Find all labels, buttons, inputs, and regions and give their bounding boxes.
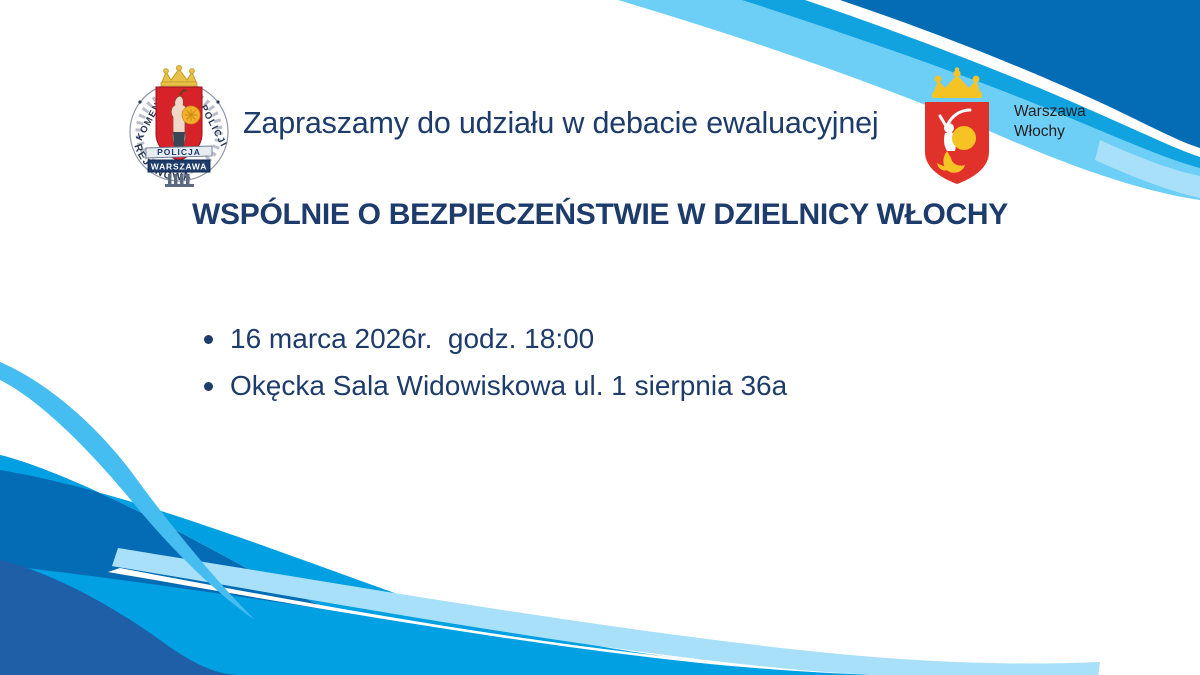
wave-bottom-pale-blue — [112, 560, 1100, 675]
presentation-slide: REJONOWA KOMENDA POLICJI — [0, 0, 1200, 675]
svg-text:WARSZAWA: WARSZAWA — [151, 162, 207, 172]
svg-text:POLICJA: POLICJA — [157, 147, 201, 157]
crown-shape — [161, 65, 197, 86]
wlochy-logo: Warszawa Włochy — [918, 66, 1158, 184]
invitation-text: Zapraszamy do udziału w debacie ewaluacy… — [243, 104, 923, 142]
wave-bottom-deep-blue — [0, 455, 600, 675]
warsaw-mermaid-shield-icon — [918, 66, 996, 184]
header-row: REJONOWA KOMENDA POLICJI — [0, 52, 1200, 197]
wave-bottom-bright-blue — [0, 455, 960, 675]
list-item: Okęcka Sala Widowiskowa ul. 1 sierpnia 3… — [198, 362, 1058, 409]
wave-bottom-navy-lobe — [0, 560, 240, 675]
wave-bottom-pale-blue-body — [112, 548, 1100, 675]
wlochy-logo-text: Warszawa Włochy — [1014, 102, 1086, 142]
page-title: WSPÓLNIE O BEZPIECZEŃSTWIE W DZIELNICY W… — [0, 198, 1200, 232]
wave-bottom-bright-tail — [0, 565, 1010, 675]
crown-shape — [932, 67, 982, 98]
details-list: 16 marca 2026r. godz. 18:00 Okęcka Sala … — [198, 315, 1058, 409]
wlochy-logo-line1: Warszawa — [1014, 102, 1086, 122]
list-item: 16 marca 2026r. godz. 18:00 — [198, 315, 1058, 362]
wlochy-logo-line2: Włochy — [1014, 122, 1086, 142]
police-emblem-icon: REJONOWA KOMENDA POLICJI — [118, 60, 240, 190]
wave-bottom-white-separator — [108, 568, 1040, 675]
